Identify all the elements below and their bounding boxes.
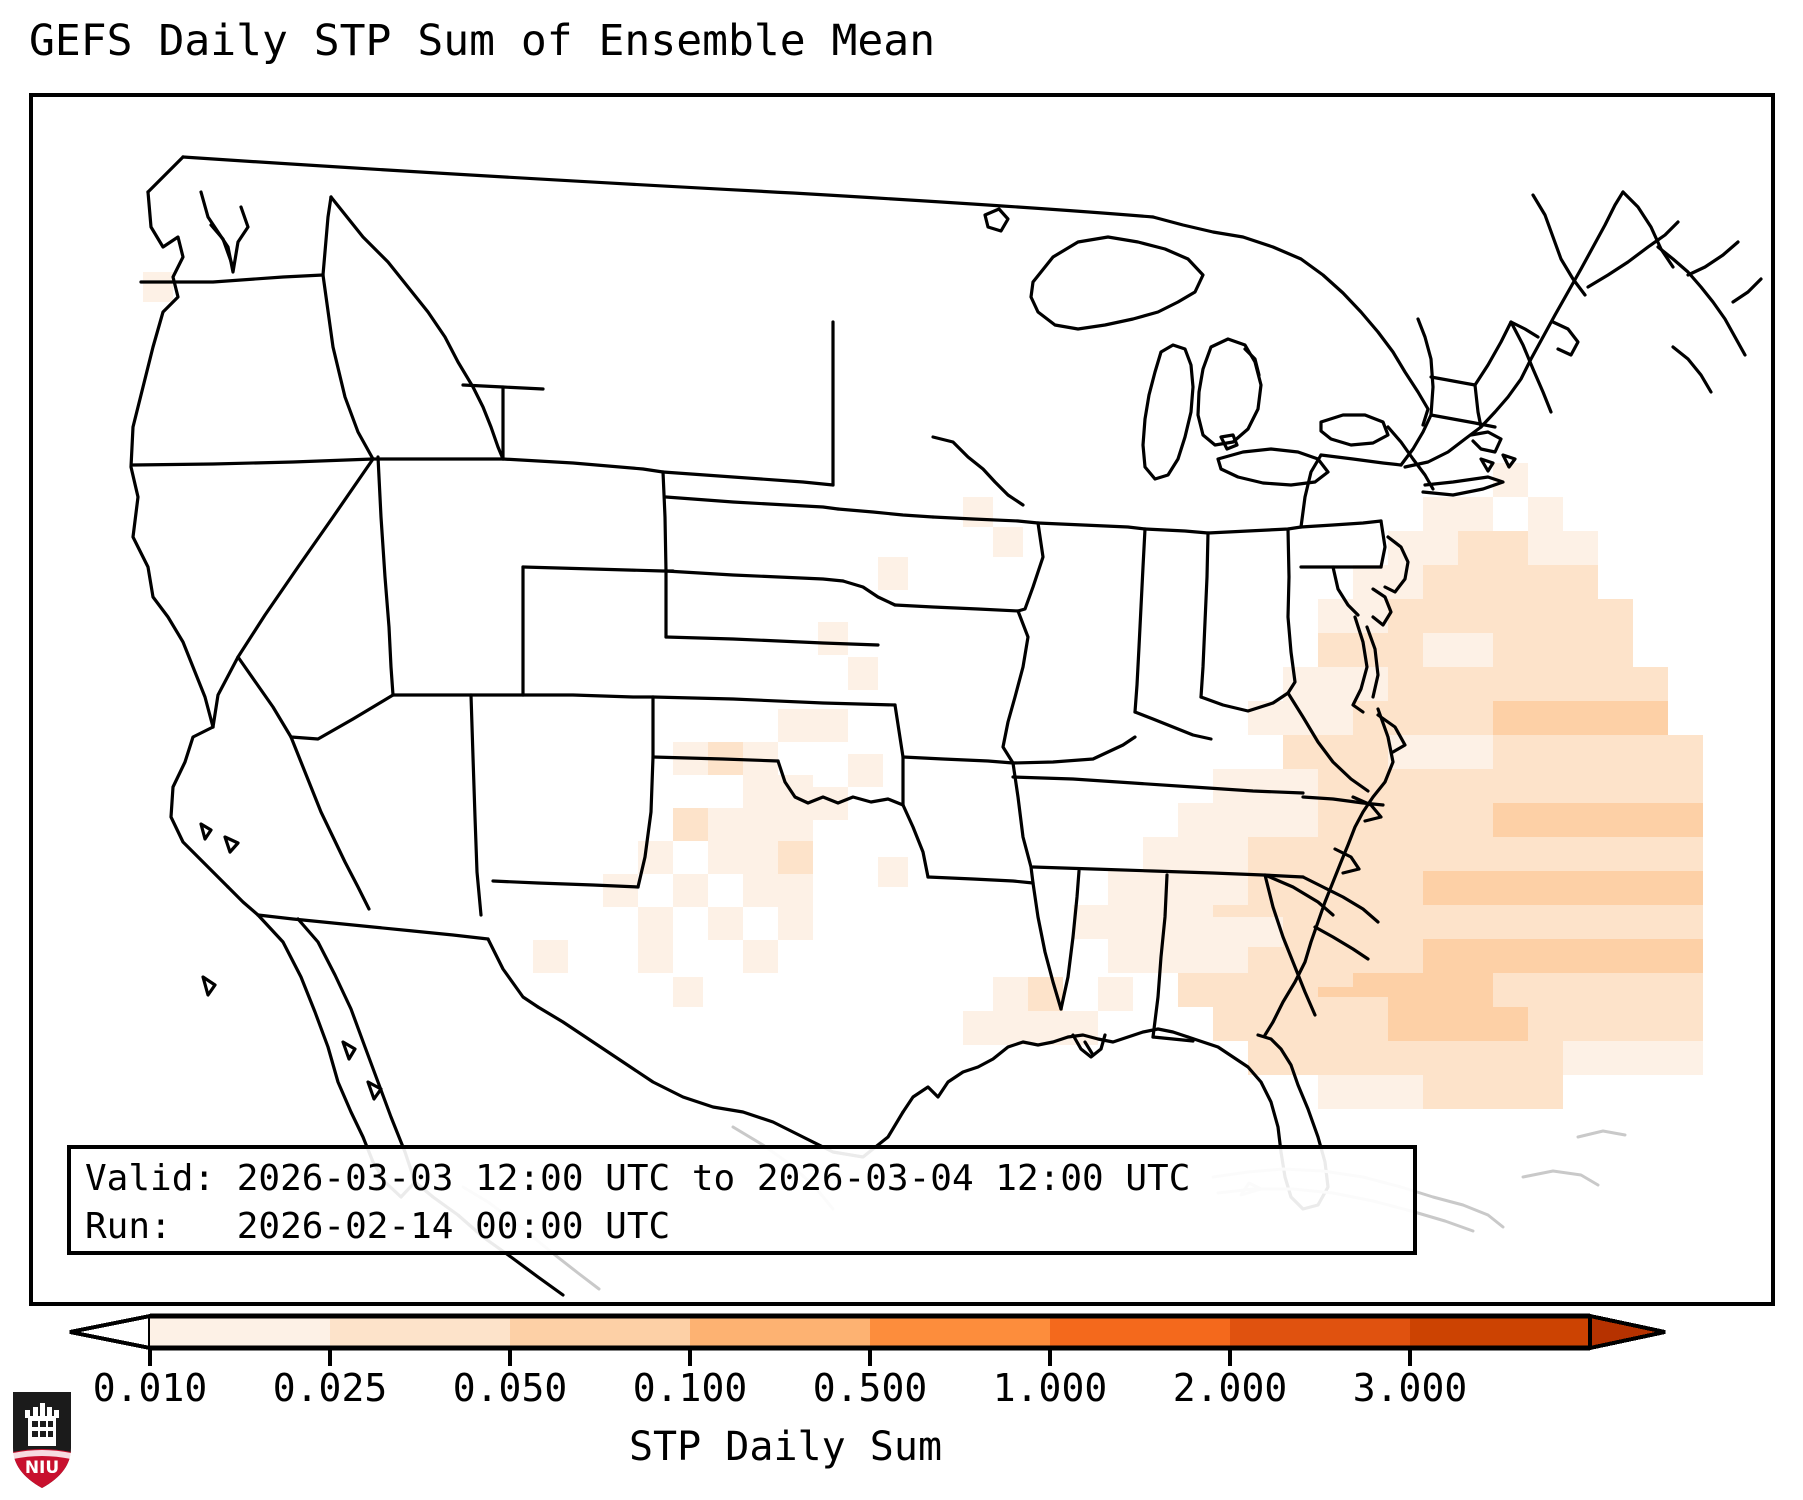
colorbar-over-arrow: [1590, 1316, 1665, 1348]
forecast-info-box: Valid: 2026-03-03 12:00 UTC to 2026-03-0…: [67, 1145, 1417, 1255]
colorbar-tick-label: 3.000: [1353, 1366, 1467, 1410]
colorbar-tick-label: 1.000: [993, 1366, 1107, 1410]
niu-logo-text: NIU: [25, 1458, 59, 1478]
valid-time-line: Valid: 2026-03-03 12:00 UTC to 2026-03-0…: [85, 1155, 1401, 1203]
colorbar-band: [1230, 1316, 1410, 1348]
colorbar-tick-label: 0.500: [813, 1366, 927, 1410]
colorbar-band: [1410, 1316, 1590, 1348]
colorbar-svg: [0, 1310, 1803, 1370]
map-panel: [29, 93, 1775, 1306]
colorbar: [0, 1310, 1803, 1370]
run-time-line: Run: 2026-02-14 00:00 UTC: [85, 1203, 1401, 1251]
colorbar-tick-label: 0.050: [453, 1366, 567, 1410]
niu-logo: NIU: [10, 1390, 74, 1490]
colorbar-tick-label: 0.025: [273, 1366, 387, 1410]
colorbar-axis-label-text: STP Daily Sum: [629, 1424, 942, 1470]
colorbar-tick-label: 0.100: [633, 1366, 747, 1410]
colorbar-tick-labels: 0.010 0.025 0.050 0.100 0.500 1.000 2.00…: [0, 1366, 1803, 1426]
colorbar-band: [690, 1316, 870, 1348]
colorbar-tick-label: 2.000: [1173, 1366, 1287, 1410]
page-title: GEFS Daily STP Sum of Ensemble Mean: [29, 16, 935, 66]
colorbar-band: [870, 1316, 1050, 1348]
colorbar-band: [330, 1316, 510, 1348]
colorbar-tick-label: 0.010: [93, 1366, 207, 1410]
colorbar-band: [510, 1316, 690, 1348]
geography-layer: [33, 97, 1771, 1302]
colorbar-band: [1050, 1316, 1230, 1348]
map-inner: [33, 97, 1771, 1302]
colorbar-axis-label: STP Daily Sum: [0, 1424, 1803, 1470]
colorbar-under-arrow: [70, 1316, 150, 1348]
colorbar-band: [150, 1316, 330, 1348]
